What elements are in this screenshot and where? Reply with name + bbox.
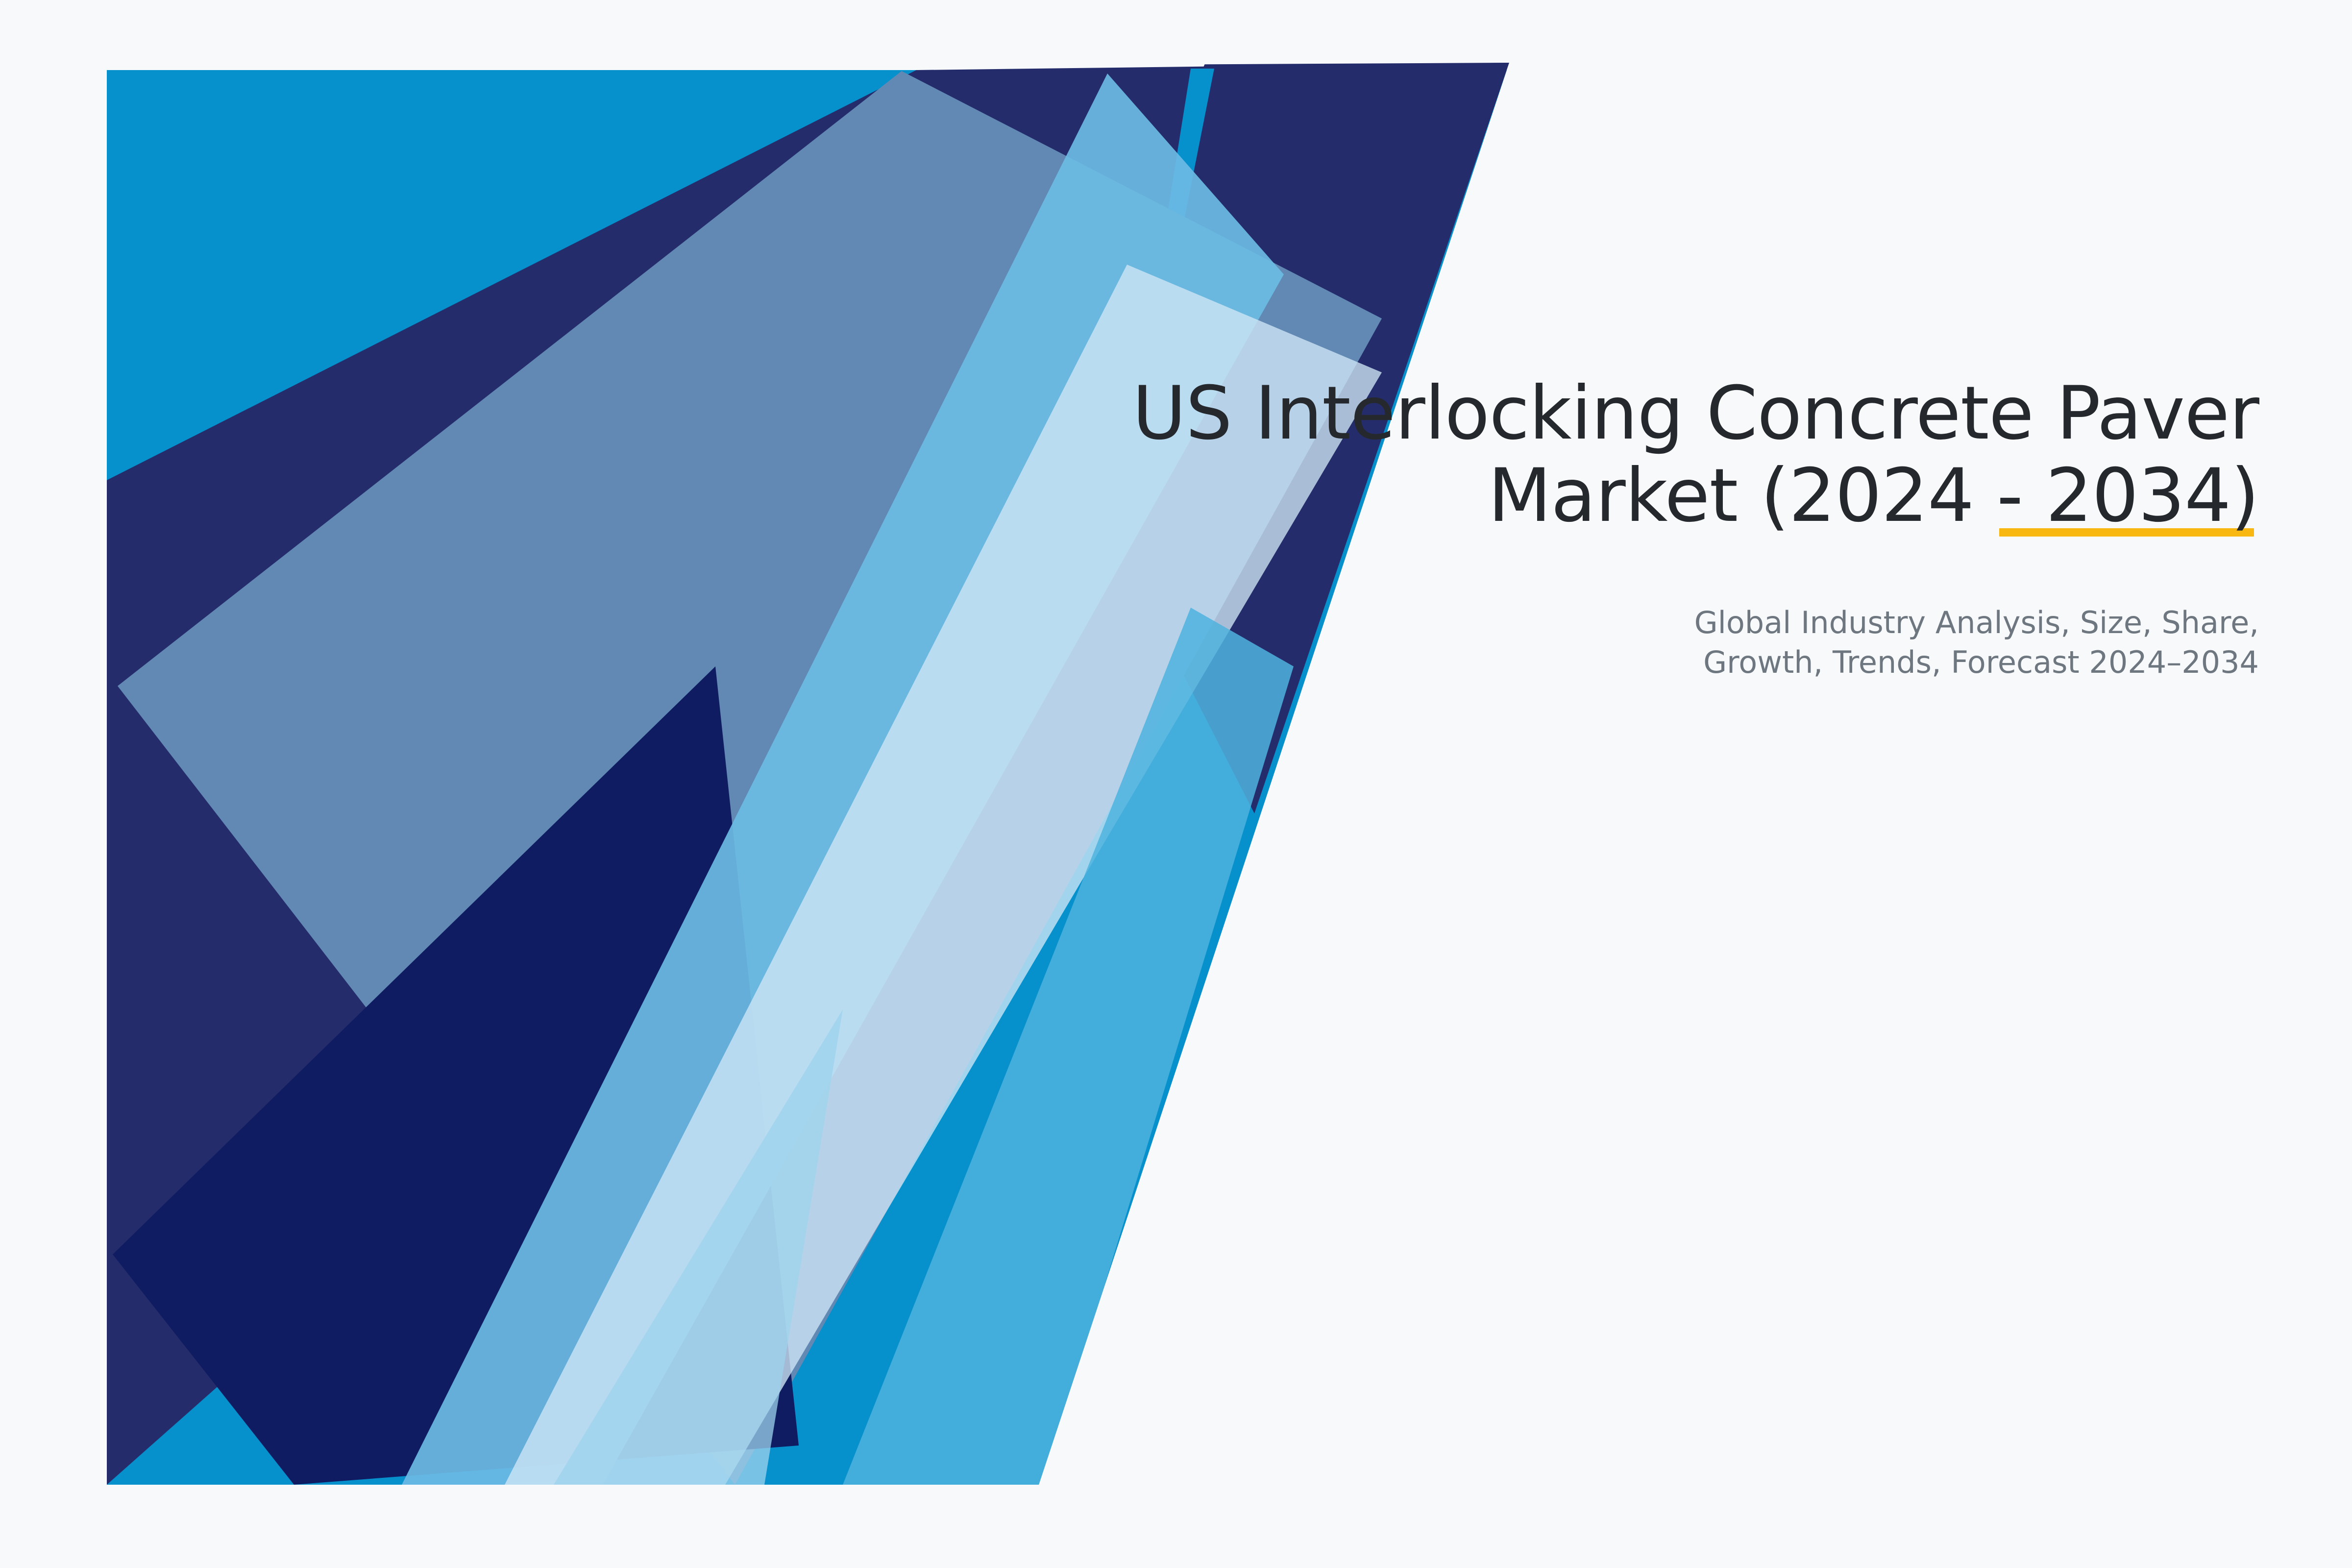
cover-page: US Interlocking Concrete Paver Market (2… bbox=[0, 0, 2352, 1568]
cover-text-block: US Interlocking Concrete Paver Market (2… bbox=[985, 372, 2259, 682]
page-title: US Interlocking Concrete Paver Market (2… bbox=[985, 372, 2259, 537]
page-subtitle: Global Industry Analysis, Size, Share, G… bbox=[985, 537, 2259, 682]
abstract-geometric-artwork bbox=[0, 0, 2352, 1568]
